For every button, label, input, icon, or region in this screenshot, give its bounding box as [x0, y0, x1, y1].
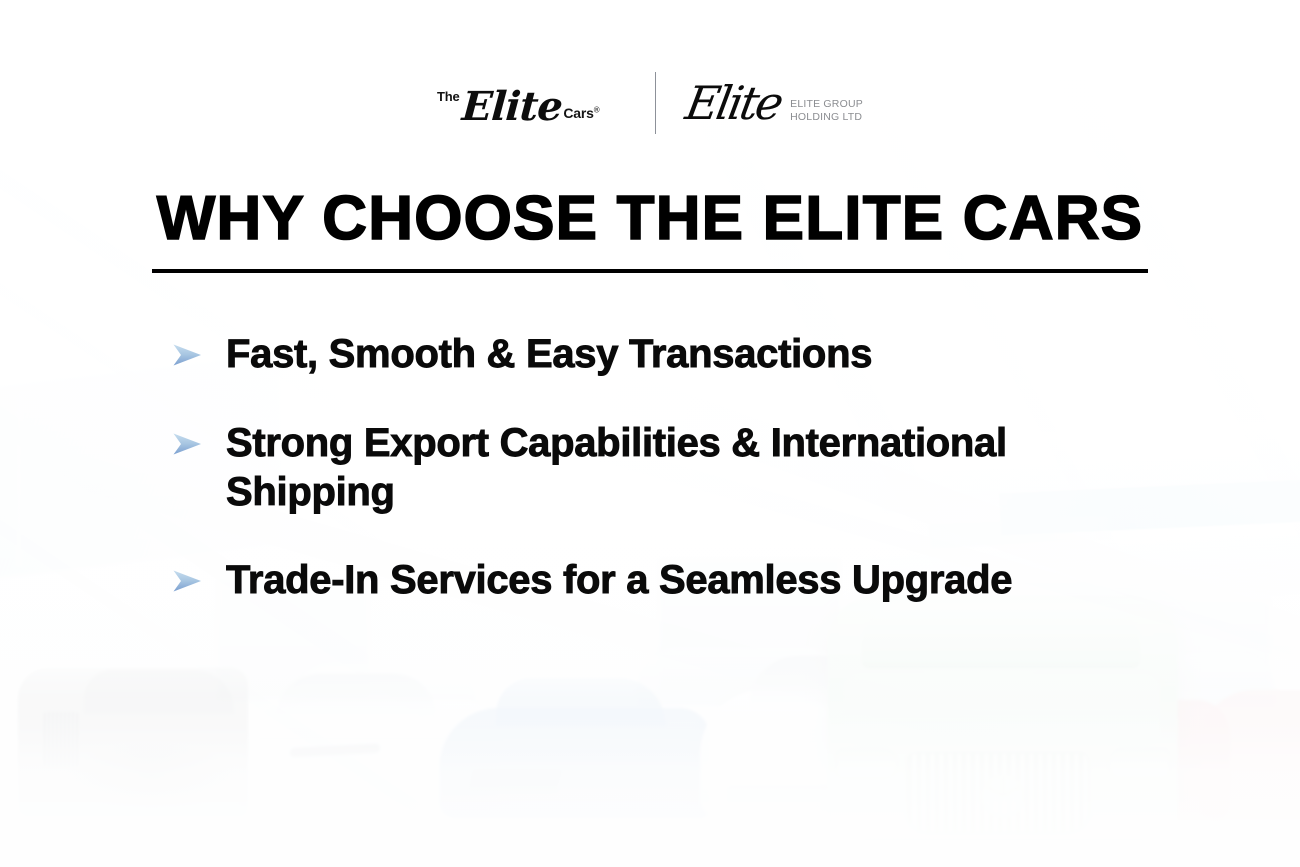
logo-elite-script: Elite	[460, 88, 562, 126]
logo-divider	[655, 72, 656, 134]
title-underline-divider	[152, 269, 1148, 273]
slide-content: The Elite Cars® Elite ELITE GROUPHOLDING…	[0, 0, 1300, 867]
benefits-list: Fast, Smooth & Easy Transactions	[170, 330, 1170, 605]
list-item-label: Fast, Smooth & Easy Transactions	[226, 330, 872, 379]
list-item-label: Strong Export Capabilities & Internation…	[226, 419, 1026, 517]
page-title: WHY CHOOSE THE ELITE CARS	[0, 188, 1300, 250]
elite-group-holding-logo[interactable]: Elite ELITE GROUPHOLDING LTD	[686, 87, 863, 124]
logo-cars-label: Cars	[563, 105, 593, 121]
logo-cars-text: Cars®	[563, 105, 599, 121]
registered-mark-icon: ®	[594, 105, 600, 114]
logo-line-2: HOLDING LTD	[790, 111, 862, 123]
logo-the-text: The	[437, 89, 460, 104]
slide-root: The Elite Cars® Elite ELITE GROUPHOLDING…	[0, 0, 1300, 867]
the-elite-cars-logo[interactable]: The Elite Cars®	[437, 86, 625, 124]
logo-line-1: ELITE GROUP	[790, 98, 863, 110]
list-item: Trade-In Services for a Seamless Upgrade	[170, 556, 1170, 605]
arrow-right-icon	[170, 564, 204, 598]
logo-elite-group-text: ELITE GROUPHOLDING LTD	[790, 98, 863, 124]
list-item: Strong Export Capabilities & Internation…	[170, 419, 1170, 517]
arrow-right-icon	[170, 427, 204, 461]
list-item-label: Trade-In Services for a Seamless Upgrade	[226, 556, 1012, 605]
logo-elite-script-mark: Elite	[684, 85, 784, 122]
arrow-right-icon	[170, 338, 204, 372]
logo-lockup: The Elite Cars® Elite ELITE GROUPHOLDING…	[0, 74, 1300, 136]
list-item: Fast, Smooth & Easy Transactions	[170, 330, 1170, 379]
